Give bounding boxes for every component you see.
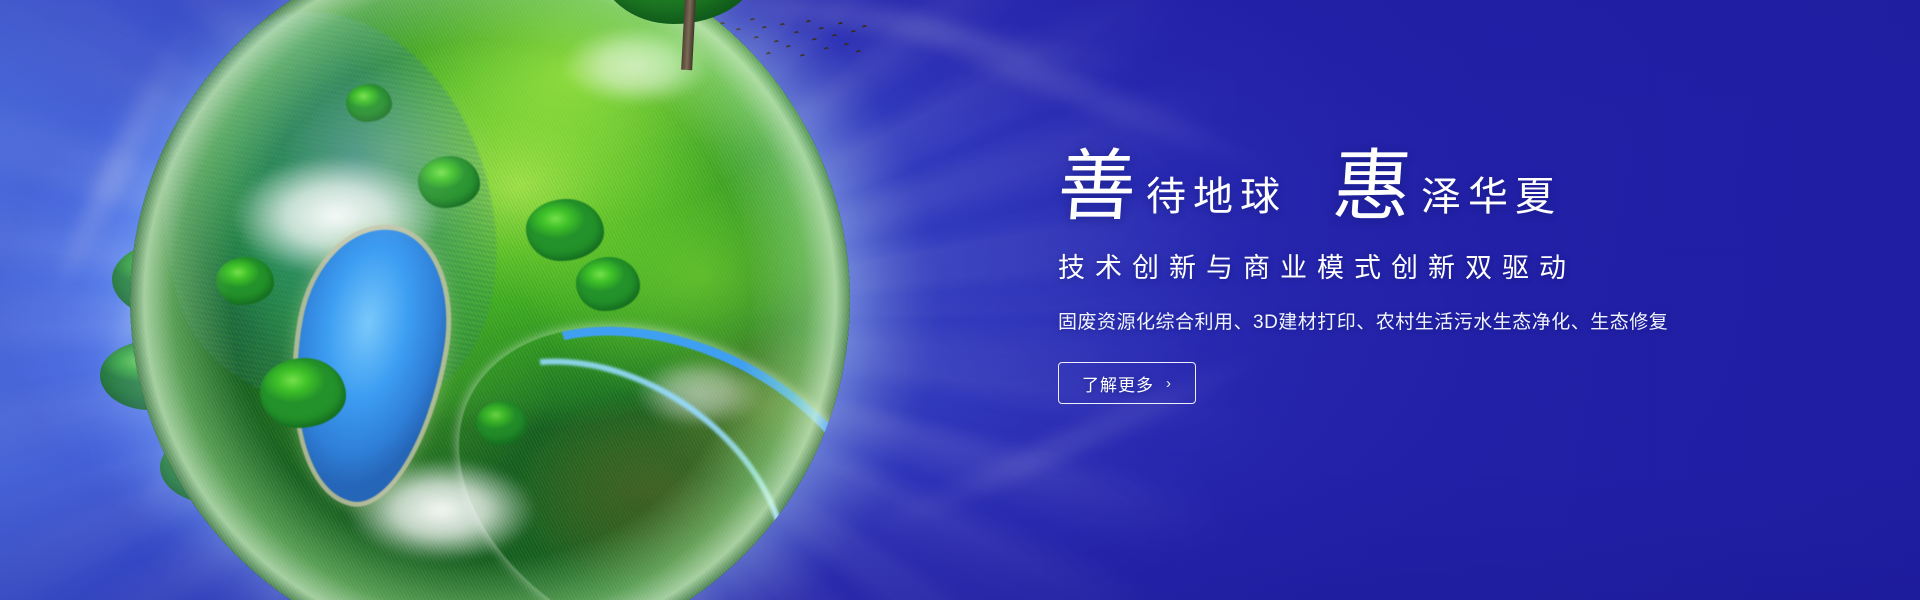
headline-phrase-one: 善 待地球 (1058, 152, 1287, 224)
forest-bush (260, 358, 346, 428)
headline-brush-char-1: 善 (1055, 152, 1138, 224)
headline-rest-2: 泽华夏 (1421, 177, 1562, 224)
hero-content: 善 待地球 惠 泽华夏 技术创新与商业模式创新双驱动 固废资源化综合利用、3D建… (1058, 132, 1848, 404)
learn-more-button[interactable]: 了解更多 › (1058, 362, 1196, 404)
forest-bush (418, 156, 480, 208)
headline-brush-char-2: 惠 (1331, 152, 1414, 224)
hero-banner: 善 待地球 惠 泽华夏 技术创新与商业模式创新双驱动 固废资源化综合利用、3D建… (0, 0, 1920, 600)
hero-description: 固废资源化综合利用、3D建材打印、农村生活污水生态净化、生态修复 (1058, 307, 1848, 334)
green-planet-illustration (130, 0, 850, 600)
forest-bush (216, 257, 274, 305)
forest-bush (526, 199, 604, 261)
chevron-right-icon: › (1166, 376, 1172, 391)
headline-phrase-two: 惠 泽华夏 (1333, 152, 1562, 224)
hero-subtitle: 技术创新与商业模式创新双驱动 (1058, 246, 1848, 285)
forest-bush (346, 84, 392, 122)
learn-more-label: 了解更多 (1082, 371, 1154, 396)
forest-bush (476, 401, 528, 445)
planet-sphere (130, 0, 850, 600)
page-title: 善 待地球 惠 泽华夏 (1058, 132, 1848, 224)
headline-rest-1: 待地球 (1146, 177, 1287, 224)
forest-bush (576, 257, 640, 311)
